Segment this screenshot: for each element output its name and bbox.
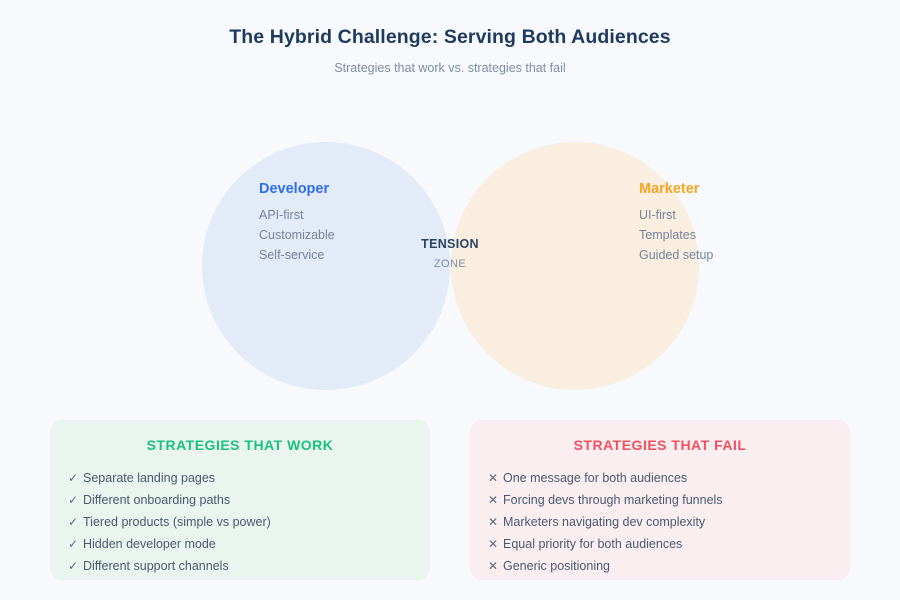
list-item: ✕ Equal priority for both audiences — [488, 533, 850, 555]
list-item: ✕ Forcing devs through marketing funnels — [488, 489, 850, 511]
list-item: ✓ Different support channels — [68, 555, 430, 577]
list-item: ✓ Separate landing pages — [68, 467, 430, 489]
venn-trait-marketer: Templates — [639, 225, 713, 245]
list-item: ✓ Hidden developer mode — [68, 533, 430, 555]
cross-icon: ✕ — [488, 467, 503, 489]
list-item-label: Forcing devs through marketing funnels — [503, 489, 723, 511]
venn-trait-marketer: UI-first — [639, 205, 713, 225]
panel-strategies-that-fail: STRATEGIES THAT FAIL ✕ One message for b… — [470, 420, 850, 580]
venn-trait-developer: API-first — [259, 205, 335, 225]
list-item-label: Different onboarding paths — [83, 489, 230, 511]
list-item-label: Tiered products (simple vs power) — [83, 511, 271, 533]
check-icon: ✓ — [68, 533, 83, 555]
cross-icon: ✕ — [488, 533, 503, 555]
strategies-work-list: ✓ Separate landing pages ✓ Different onb… — [50, 453, 430, 577]
list-item-label: Hidden developer mode — [83, 533, 216, 555]
cross-icon: ✕ — [488, 511, 503, 533]
page-subtitle: Strategies that work vs. strategies that… — [0, 49, 900, 75]
venn-trait-developer: Customizable — [259, 225, 335, 245]
list-item: ✕ One message for both audiences — [488, 467, 850, 489]
list-item-label: One message for both audiences — [503, 467, 687, 489]
venn-diagram: Developer API-first Customizable Self-se… — [0, 130, 900, 410]
check-icon: ✓ — [68, 555, 83, 577]
list-item: ✕ Marketers navigating dev complexity — [488, 511, 850, 533]
header: The Hybrid Challenge: Serving Both Audie… — [0, 0, 900, 75]
strategies-fail-list: ✕ One message for both audiences ✕ Forci… — [470, 453, 850, 577]
list-item-label: Different support channels — [83, 555, 229, 577]
page-title: The Hybrid Challenge: Serving Both Audie… — [0, 0, 900, 49]
tension-zone-label: TENSION ZONE — [385, 238, 515, 270]
list-item-label: Equal priority for both audiences — [503, 533, 682, 555]
venn-trait-developer: Self-service — [259, 245, 335, 265]
venn-heading-marketer: Marketer — [639, 182, 713, 198]
list-item: ✓ Different onboarding paths — [68, 489, 430, 511]
check-icon: ✓ — [68, 511, 83, 533]
list-item: ✓ Tiered products (simple vs power) — [68, 511, 430, 533]
list-item-label: Generic positioning — [503, 555, 610, 577]
cross-icon: ✕ — [488, 489, 503, 511]
panel-heading-work: STRATEGIES THAT WORK — [50, 420, 430, 453]
venn-label-group-developer: Developer API-first Customizable Self-se… — [259, 182, 335, 265]
list-item: ✕ Generic positioning — [488, 555, 850, 577]
list-item-label: Marketers navigating dev complexity — [503, 511, 705, 533]
cross-icon: ✕ — [488, 555, 503, 577]
list-item-label: Separate landing pages — [83, 467, 215, 489]
panel-heading-fail: STRATEGIES THAT FAIL — [470, 420, 850, 453]
venn-trait-marketer: Guided setup — [639, 245, 713, 265]
venn-heading-developer: Developer — [259, 182, 335, 198]
panel-strategies-that-work: STRATEGIES THAT WORK ✓ Separate landing … — [50, 420, 430, 580]
venn-label-group-marketer: Marketer UI-first Templates Guided setup — [639, 182, 713, 265]
check-icon: ✓ — [68, 489, 83, 511]
tension-zone-title: TENSION — [385, 238, 515, 252]
check-icon: ✓ — [68, 467, 83, 489]
tension-zone-subtitle: ZONE — [385, 258, 515, 270]
